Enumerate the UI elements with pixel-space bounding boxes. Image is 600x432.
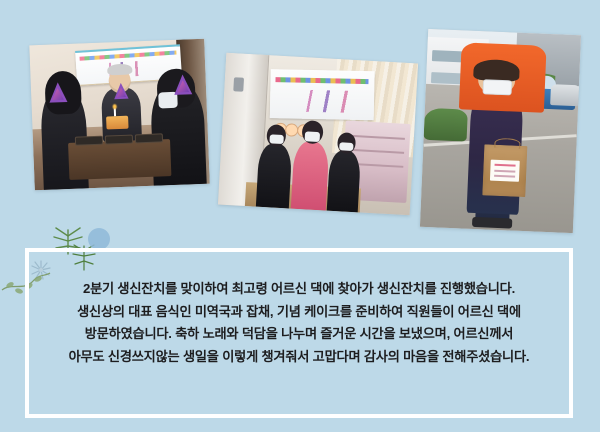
white-car xyxy=(551,84,579,107)
elder-with-gift-bag-photo xyxy=(420,29,581,233)
seated-person xyxy=(291,140,329,210)
blue-dot-icon xyxy=(88,228,110,250)
birthday-banner xyxy=(270,69,375,120)
food-dish xyxy=(134,133,163,143)
birthday-cake xyxy=(106,116,129,130)
seated-person xyxy=(327,150,361,212)
face-mask xyxy=(304,131,320,141)
indoor-birthday-party-photo xyxy=(29,39,209,191)
group-celebration-photo xyxy=(218,53,418,215)
paper-gift-bag xyxy=(482,144,527,197)
photo-1-scene xyxy=(29,39,209,191)
seated-person xyxy=(256,143,292,209)
grass-patch xyxy=(424,108,468,141)
cake-candle xyxy=(114,108,116,116)
shoes xyxy=(472,217,512,229)
party-hat-icon xyxy=(48,82,67,103)
face-mask xyxy=(482,79,512,96)
body-paragraph: 2분기 생신잔치를 맞이하여 최고령 어르신 댁에 찾아가 생신잔치를 진행했습… xyxy=(25,278,573,369)
party-hat-icon xyxy=(174,74,193,95)
low-table xyxy=(68,139,171,181)
party-hat-icon xyxy=(113,83,128,100)
gift-bag-label xyxy=(490,160,520,182)
face-mask xyxy=(339,142,353,151)
photo-2-scene xyxy=(218,53,418,215)
photo-3-scene xyxy=(420,29,581,233)
newsletter-card: 2분기 생신잔치를 맞이하여 최고령 어르신 댁에 찾아가 생신잔치를 진행했습… xyxy=(0,0,600,432)
food-dish xyxy=(105,134,134,144)
food-dish xyxy=(75,135,104,145)
face-mask xyxy=(269,135,284,145)
